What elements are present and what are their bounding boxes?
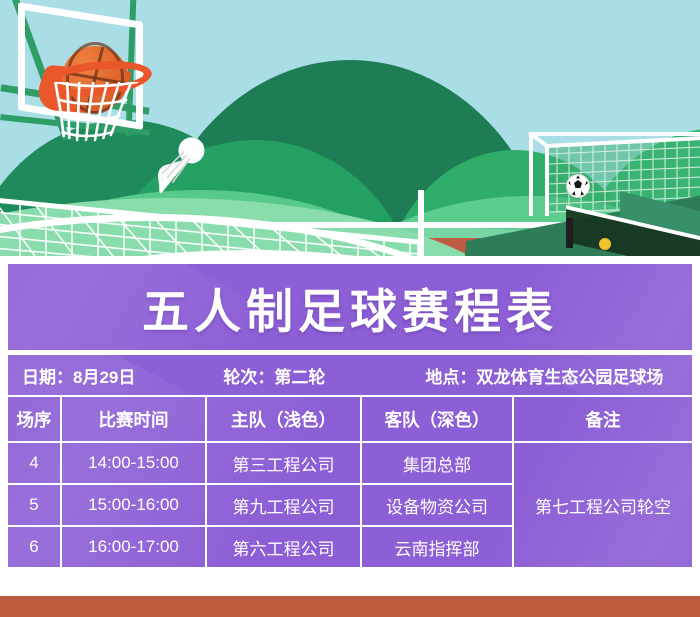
cell-home-team: 第九工程公司 [205, 483, 360, 525]
meta-info-row: 日期：8月29日 轮次：第二轮 地点：双龙体育生态公园足球场 [8, 355, 692, 395]
header-time: 比赛时间 [60, 397, 205, 441]
basketball-net-icon [43, 82, 140, 142]
page-title: 五人制足球赛程表 [142, 273, 558, 342]
header-order: 场序 [8, 397, 60, 441]
date-label: 日期：8月29日 [22, 363, 135, 388]
cell-time: 14:00-15:00 [60, 441, 205, 483]
header-note: 备注 [512, 397, 692, 441]
table-header-row: 场序 比赛时间 主队（浅色） 客队（深色） 备注 [8, 397, 692, 441]
table-row: 5 15:00-16:00 第九工程公司 设备物资公司 [8, 483, 512, 525]
schedule-poster: 五人制足球赛程表 日期：8月29日 轮次：第二轮 地点：双龙体育生态公园足球场 … [0, 0, 700, 617]
schedule-table: 场序 比赛时间 主队（浅色） 客队（深色） 备注 4 14:00-15:00 第… [8, 395, 692, 567]
table-row: 6 16:00-17:00 第六工程公司 云南指挥部 [8, 525, 512, 567]
cell-order: 6 [8, 525, 60, 567]
cell-time: 16:00-17:00 [60, 525, 205, 567]
round-label: 轮次：第二轮 [223, 363, 325, 388]
header-away-team: 客队（深色） [360, 397, 512, 441]
schedule-panel: 五人制足球赛程表 日期：8月29日 轮次：第二轮 地点：双龙体育生态公园足球场 … [0, 256, 700, 596]
cell-order: 4 [8, 441, 60, 483]
table-body: 4 14:00-15:00 第三工程公司 集团总部 5 15:00-16:00 … [8, 441, 692, 567]
cell-home-team: 第三工程公司 [205, 441, 360, 483]
pingpong-net-post [566, 218, 573, 248]
cell-away-team: 设备物资公司 [360, 483, 512, 525]
table-row: 4 14:00-15:00 第三工程公司 集团总部 [8, 441, 512, 483]
header-home-team: 主队（浅色） [205, 397, 360, 441]
cell-home-team: 第六工程公司 [205, 525, 360, 567]
cell-note-merged: 第七工程公司轮空 [512, 441, 692, 567]
cell-away-team: 云南指挥部 [360, 525, 512, 567]
soccer-ball-icon [566, 174, 590, 198]
cell-order: 5 [8, 483, 60, 525]
cell-time: 15:00-16:00 [60, 483, 205, 525]
poster-title-block: 五人制足球赛程表 [8, 264, 692, 350]
venue-label: 地点：双龙体育生态公园足球场 [425, 363, 663, 388]
pingpong-ball-icon [599, 238, 611, 250]
cell-away-team: 集团总部 [360, 441, 512, 483]
